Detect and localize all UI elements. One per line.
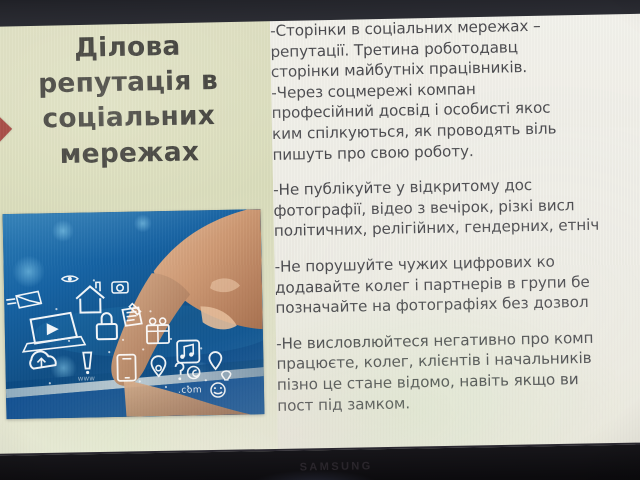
slide-title-line-4: мережах (0, 133, 261, 173)
svg-text:www: www (78, 374, 96, 382)
photographed-monitor-frame: Ділова репутація в соціальних мережах (0, 0, 640, 480)
presentation-slide: Ділова репутація в соціальних мережах (0, 6, 640, 461)
slide-title-line-1: Ділова (0, 27, 259, 67)
monitor-brand-label: SAMSUNG (300, 460, 373, 473)
slide-image-hand-on-tablet: .com www (3, 209, 265, 419)
svg-text:.com: .com (178, 385, 202, 395)
slide-title-line-3: соціальних (0, 98, 260, 138)
slide-body-text: -Сторінки в соціальних мережах – репутац… (270, 13, 640, 416)
slide-title-line-2: репутація в (0, 62, 259, 102)
tablet-social-icons-illustration: .com www (3, 209, 265, 419)
slide-title: Ділова репутація в соціальних мережах (0, 27, 261, 173)
